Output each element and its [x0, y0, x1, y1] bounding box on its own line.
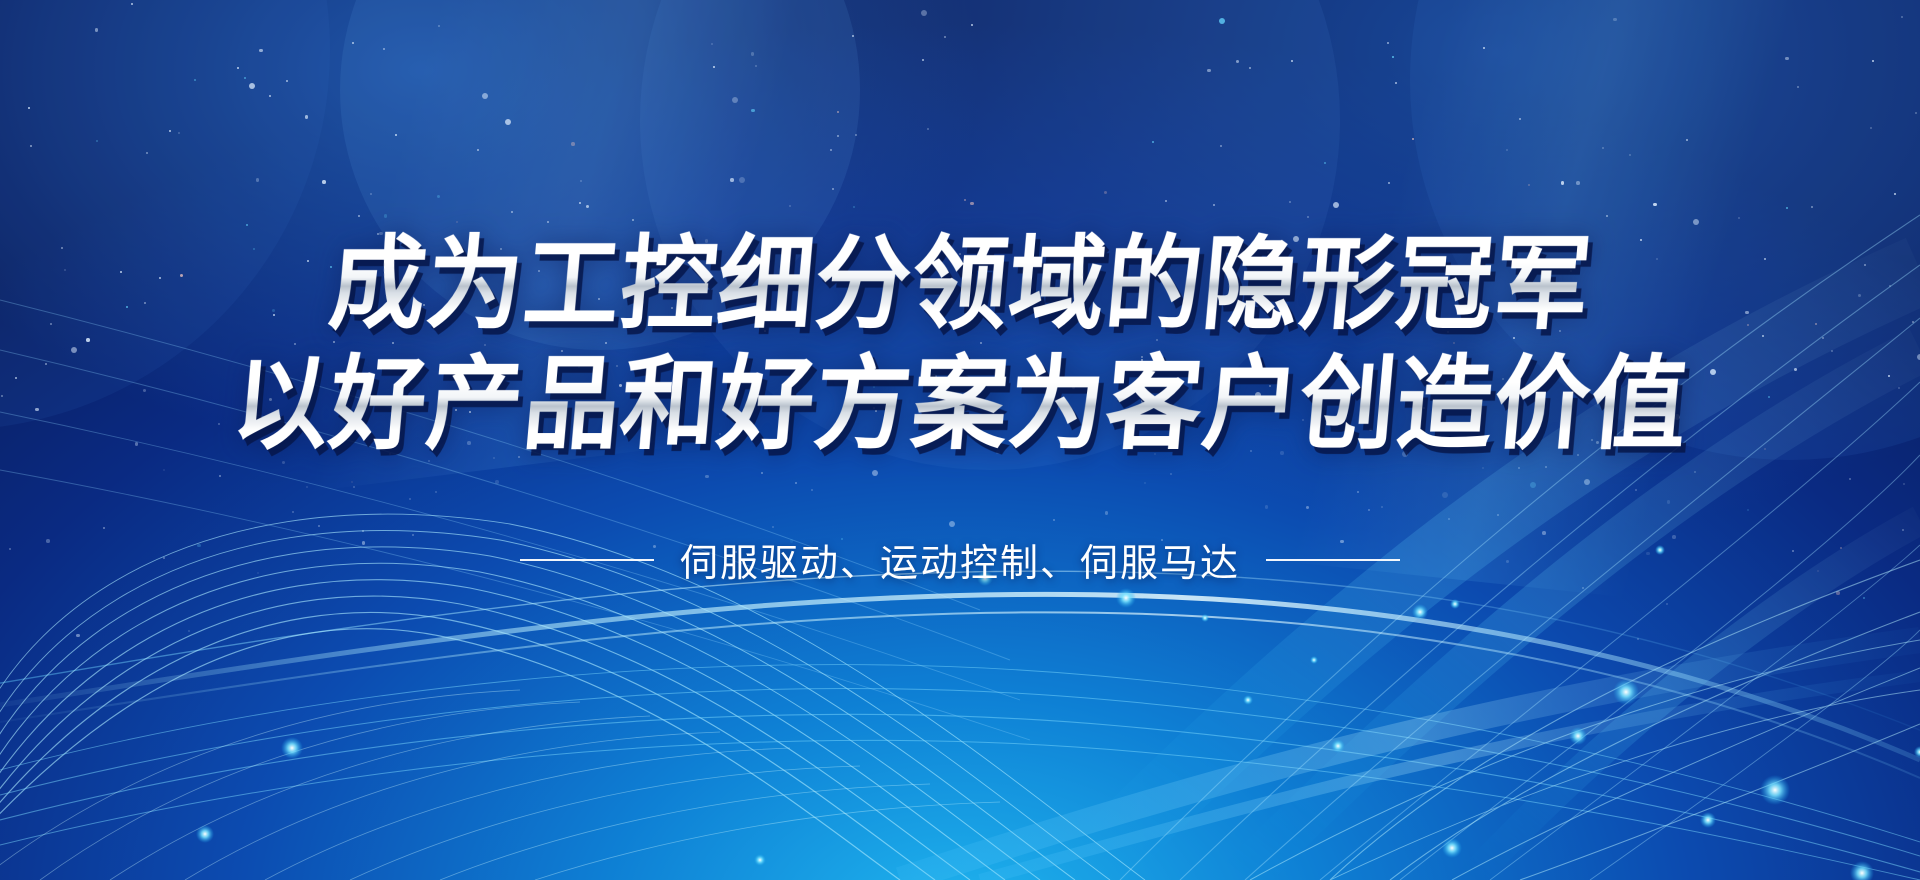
subtitle-text: 伺服驱动、运动控制、伺服马达: [680, 532, 1240, 587]
banner-stage: 成为工控细分领域的隐形冠军 以好产品和好方案为客户创造价值 伺服驱动、运动控制、…: [0, 0, 1920, 880]
subtitle-row: 伺服驱动、运动控制、伺服马达: [520, 532, 1400, 587]
subtitle-rule-right: [1266, 559, 1400, 561]
banner-content: 成为工控细分领域的隐形冠军 以好产品和好方案为客户创造价值 伺服驱动、运动控制、…: [0, 0, 1920, 880]
headline-line-2: 以好产品和好方案为客户创造价值: [228, 349, 1693, 459]
headline-line-1: 成为工控细分领域的隐形冠军: [325, 229, 1596, 339]
subtitle-rule-left: [520, 559, 654, 561]
